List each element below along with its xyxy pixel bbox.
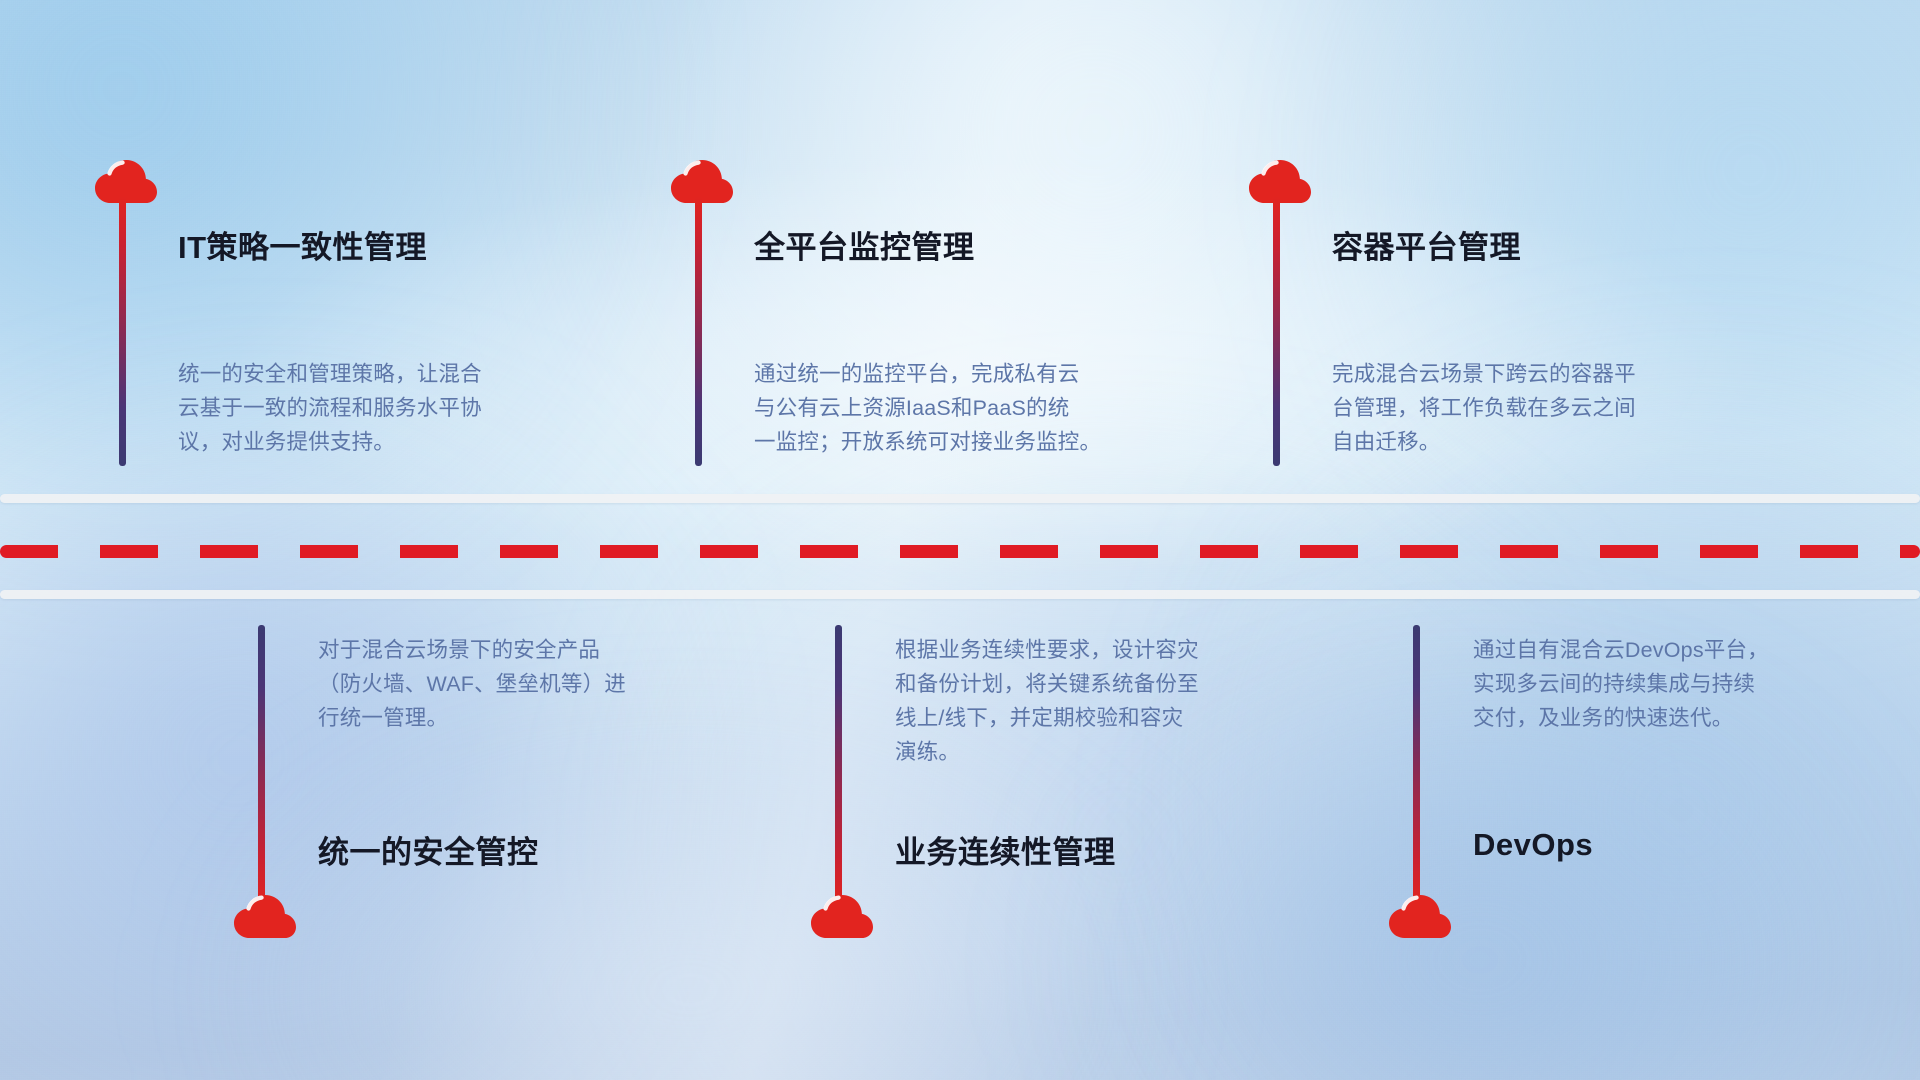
card-body: 通过统一的监控平台，完成私有云 与公有云上资源IaaS和PaaS的统 一监控；开… [754,357,1101,459]
card-body-line: 对于混合云场景下的安全产品 [318,633,626,667]
card-body-line: 实现多云间的持续集成与持续 [1473,667,1769,701]
card-title: 统一的安全管控 [318,827,539,872]
cloud-icon [1389,895,1451,939]
card-stem [835,625,842,910]
card-body-line: 通过统一的监控平台，完成私有云 [754,357,1101,391]
card-title: 容器平台管理 [1332,222,1521,267]
cloud-icon [95,160,157,204]
card-body-line: 行统一管理。 [318,701,626,735]
card-stem [258,625,265,910]
card-body-line: 和备份计划，将关键系统备份至 [895,667,1199,701]
card-body-line: 完成混合云场景下跨云的容器平 [1332,357,1636,391]
card-body-line: 台管理，将工作负载在多云之间 [1332,391,1636,425]
card-body-line: 自由迁移。 [1332,425,1636,459]
cloud-icon [1249,160,1311,204]
card-body-line: 云基于一致的流程和服务水平协 [178,391,482,425]
card-body-line: 议，对业务提供支持。 [178,425,482,459]
card-stem [1413,625,1420,910]
card-title: DevOps [1473,827,1593,863]
card-body: 通过自有混合云DevOps平台， 实现多云间的持续集成与持续 交付，及业务的快速… [1473,633,1769,735]
card-body-line: 根据业务连续性要求，设计容灾 [895,633,1199,667]
card-body: 根据业务连续性要求，设计容灾 和备份计划，将关键系统备份至 线上/线下，并定期校… [895,633,1199,769]
card-body-line: 通过自有混合云DevOps平台， [1473,633,1769,667]
card-body: 统一的安全和管理策略，让混合 云基于一致的流程和服务水平协 议，对业务提供支持。 [178,357,482,459]
cloud-icon [811,895,873,939]
card-body-line: 线上/线下，并定期校验和容灾 [895,701,1199,735]
road-solid-line-top [0,494,1920,503]
card-body-line: （防火墙、WAF、堡垒机等）进 [318,667,626,701]
card-body-line: 演练。 [895,735,1199,769]
card-body: 完成混合云场景下跨云的容器平 台管理，将工作负载在多云之间 自由迁移。 [1332,357,1636,459]
card-body-line: 交付，及业务的快速迭代。 [1473,701,1769,735]
card-body-line: 统一的安全和管理策略，让混合 [178,357,482,391]
card-stem [1273,196,1280,466]
card-body: 对于混合云场景下的安全产品 （防火墙、WAF、堡垒机等）进 行统一管理。 [318,633,626,735]
infographic-canvas: IT策略一致性管理 统一的安全和管理策略，让混合 云基于一致的流程和服务水平协 … [0,0,1920,1080]
card-body-line: 一监控；开放系统可对接业务监控。 [754,425,1101,459]
cloud-icon [234,895,296,939]
card-stem [119,196,126,466]
cloud-icon [671,160,733,204]
card-title: IT策略一致性管理 [178,222,427,267]
card-title: 全平台监控管理 [754,222,975,267]
card-title: 业务连续性管理 [895,827,1116,872]
road-dashed-line [0,545,1920,558]
card-stem [695,196,702,466]
card-body-line: 与公有云上资源IaaS和PaaS的统 [754,391,1101,425]
road-solid-line-bottom [0,590,1920,599]
